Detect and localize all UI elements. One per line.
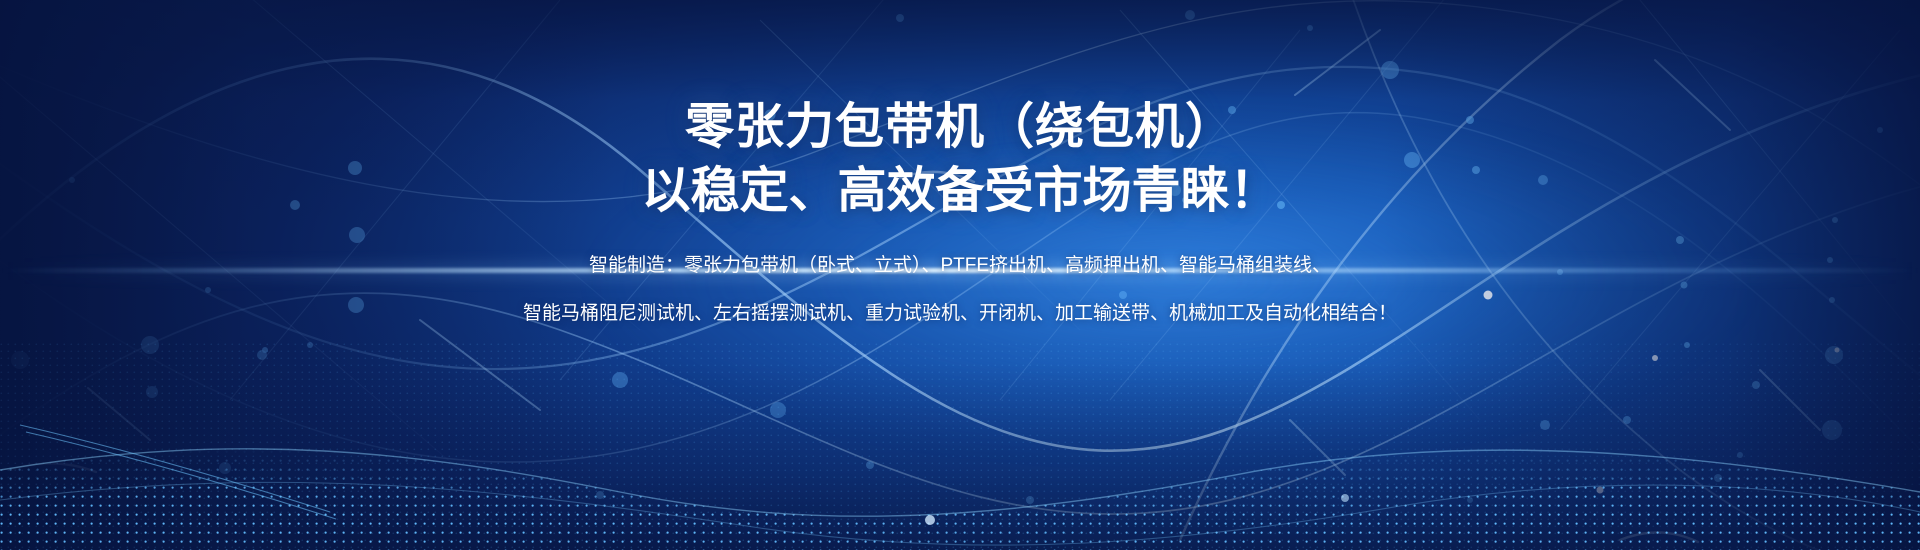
banner-subtitle-line-2: 智能马桶阻尼测试机、左右摇摆测试机、重力试验机、开闭机、加工输送带、机械加工及自… (523, 304, 1397, 323)
banner-content: 零张力包带机（绕包机） 以稳定、高效备受市场青睐！ 智能制造：零张力包带机（卧式… (0, 0, 1920, 550)
banner-subtitle-line-1: 智能制造：零张力包带机（卧式、立式）、PTFE挤出机、高频押出机、智能马桶组装线… (589, 256, 1331, 275)
banner-title-line-2: 以稳定、高效备受市场青睐！ (641, 160, 1278, 224)
hero-banner: 零张力包带机（绕包机） 以稳定、高效备受市场青睐！ 智能制造：零张力包带机（卧式… (0, 0, 1920, 550)
banner-title-line-1: 零张力包带机（绕包机） (685, 96, 1235, 160)
